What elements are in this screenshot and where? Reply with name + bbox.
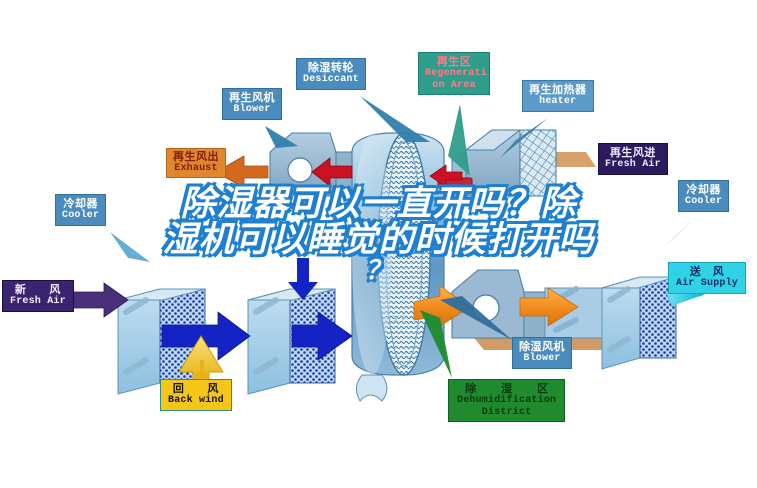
label-cn: 冷却器 (685, 184, 722, 196)
label-en: Cooler (685, 196, 722, 207)
label-en: Exhaust (173, 163, 219, 174)
label-en: Cooler (62, 210, 99, 221)
label-en: Desiccant (303, 74, 359, 85)
label-en: Back wind (168, 395, 224, 406)
label-regeneration-air-inlet: 再生风进 Fresh Air (598, 143, 668, 175)
label-regeneration-area: 再生区 Regenerati on Area (418, 52, 490, 95)
label-fresh-air: 新 风 Fresh Air (2, 280, 74, 312)
label-cn: 再生区 (425, 56, 483, 68)
label-cn: 送 风 (676, 266, 738, 278)
label-en: Fresh Air (605, 159, 661, 170)
callout-labels: 除湿转轮 Desiccant 再生风机 Blower 再生区 Regenerat… (0, 0, 757, 488)
label-air-supply: 送 风 Air Supply (668, 262, 746, 294)
label-en: Air Supply (676, 278, 738, 289)
label-en: Blower (519, 353, 565, 364)
label-cn: 再生风机 (229, 92, 275, 104)
label-cn: 再生风进 (605, 147, 661, 159)
label-cooler-left: 冷却器 Cooler (55, 194, 106, 226)
label-cooler-right: 冷却器 Cooler (678, 180, 729, 212)
label-en: heater (529, 96, 587, 107)
diagram-canvas: XT (0, 0, 757, 488)
label-en: Fresh Air (10, 296, 66, 307)
label-cn: 除 湿 区 (457, 383, 556, 395)
label-en: Regenerati (425, 68, 483, 79)
label-en-2: District (457, 407, 556, 418)
label-regeneration-heater: 再生加热器 heater (522, 80, 594, 112)
label-cn: 再生加热器 (529, 84, 587, 96)
label-cn: 除湿转轮 (303, 62, 359, 74)
label-en-2: on Area (425, 80, 483, 91)
label-cn: 新 风 (10, 284, 66, 296)
label-back-wind: 回 风 Back wind (160, 379, 232, 411)
label-cn: 除湿风机 (519, 341, 565, 353)
label-dehumidification-district: 除 湿 区 Dehumidification District (448, 379, 565, 422)
label-cn: 回 风 (168, 383, 224, 395)
label-regeneration-blower: 再生风机 Blower (222, 88, 282, 120)
label-cn: 再生风出 (173, 151, 219, 163)
label-cn: 冷却器 (62, 198, 99, 210)
label-en: Dehumidification (457, 395, 556, 406)
label-desiccant-wheel: 除湿转轮 Desiccant (296, 58, 366, 90)
label-dehumidification-blower: 除湿风机 Blower (512, 337, 572, 369)
label-exhaust: 再生风出 Exhaust (166, 148, 226, 178)
label-en: Blower (229, 104, 275, 115)
